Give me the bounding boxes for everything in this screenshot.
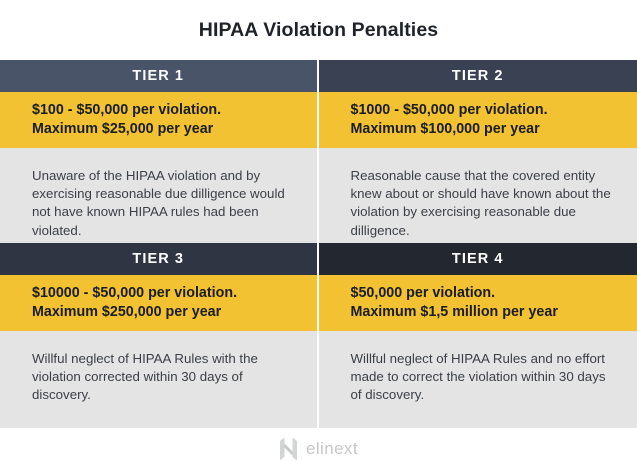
tier-amount-line-1: $1000 - $50,000 per violation. bbox=[351, 101, 637, 120]
tier-amount-line-2: Maximum $250,000 per year bbox=[32, 303, 317, 322]
tier-cell-tier-4: TIER 4 $50,000 per violation. Maximum $1… bbox=[319, 243, 637, 428]
tier-description-tier-4: Willful neglect of HIPAA Rules and no ef… bbox=[319, 331, 637, 428]
tier-amount-line-2: Maximum $1,5 million per year bbox=[351, 303, 637, 322]
tier-header-tier-1: TIER 1 bbox=[0, 60, 317, 92]
tier-amount-line-2: Maximum $25,000 per year bbox=[32, 120, 317, 139]
tier-cell-tier-2: TIER 2 $1000 - $50,000 per violation. Ma… bbox=[319, 60, 637, 243]
page-title: HIPAA Violation Penalties bbox=[199, 19, 438, 42]
tier-amount-tier-1: $100 - $50,000 per violation. Maximum $2… bbox=[0, 92, 317, 148]
tier-amount-line-2: Maximum $100,000 per year bbox=[351, 120, 637, 139]
tier-amount-line-1: $50,000 per violation. bbox=[351, 284, 637, 303]
tier-cell-tier-3: TIER 3 $10000 - $50,000 per violation. M… bbox=[0, 243, 319, 428]
tier-amount-tier-3: $10000 - $50,000 per violation. Maximum … bbox=[0, 275, 317, 331]
tier-description-tier-3: Willful neglect of HIPAA Rules with the … bbox=[0, 331, 317, 428]
tier-amount-tier-2: $1000 - $50,000 per violation. Maximum $… bbox=[319, 92, 637, 148]
penalties-table: TIER 1 $100 - $50,000 per violation. Max… bbox=[0, 60, 637, 428]
tier-amount-line-1: $10000 - $50,000 per violation. bbox=[32, 284, 317, 303]
tier-description-tier-1: Unaware of the HIPAA violation and by ex… bbox=[0, 148, 317, 243]
tier-header-tier-3: TIER 3 bbox=[0, 243, 317, 275]
logo-text: elinext bbox=[306, 439, 358, 459]
table-row: TIER 3 $10000 - $50,000 per violation. M… bbox=[0, 243, 637, 428]
tier-header-tier-2: TIER 2 bbox=[319, 60, 637, 92]
title-bar: HIPAA Violation Penalties bbox=[0, 0, 637, 60]
tier-header-tier-4: TIER 4 bbox=[319, 243, 637, 275]
footer: elinext bbox=[0, 428, 637, 469]
hipaa-penalties-infographic: HIPAA Violation Penalties TIER 1 $100 - … bbox=[0, 0, 637, 469]
tier-amount-tier-4: $50,000 per violation. Maximum $1,5 mill… bbox=[319, 275, 637, 331]
table-row: TIER 1 $100 - $50,000 per violation. Max… bbox=[0, 60, 637, 243]
tier-cell-tier-1: TIER 1 $100 - $50,000 per violation. Max… bbox=[0, 60, 319, 243]
elinext-n-mark-icon bbox=[279, 437, 298, 461]
tier-description-tier-2: Reasonable cause that the covered entity… bbox=[319, 148, 637, 243]
tier-amount-line-1: $100 - $50,000 per violation. bbox=[32, 101, 317, 120]
